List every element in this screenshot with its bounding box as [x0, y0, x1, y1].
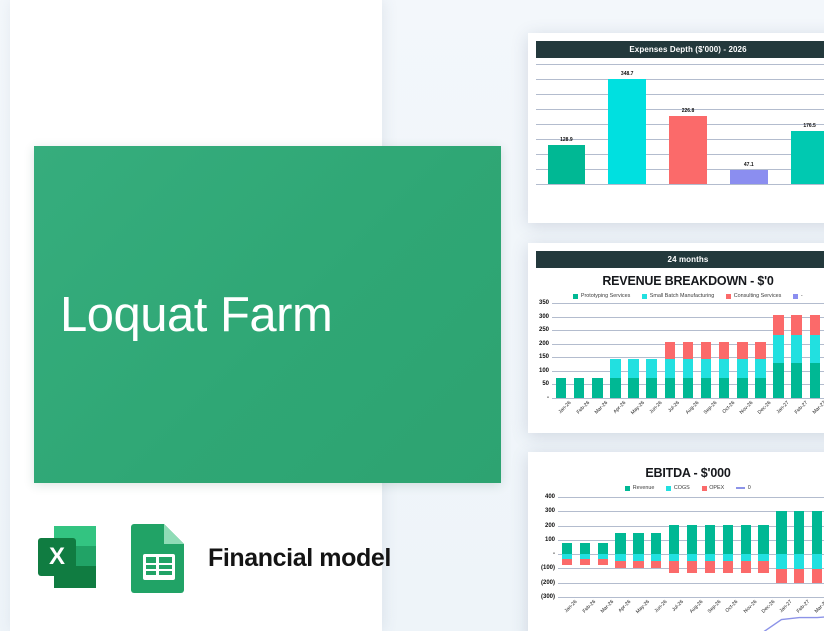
- legend-swatch-icon: [666, 486, 671, 491]
- y-axis-tick: 250: [539, 327, 549, 333]
- stacked-bar: [643, 303, 661, 398]
- bar-segment: [646, 378, 657, 398]
- bar: [669, 116, 707, 184]
- x-axis-tick: May-26: [635, 599, 651, 615]
- y-axis-tick: -: [547, 395, 549, 401]
- x-axis-label-cell: Jan-27: [770, 398, 788, 406]
- legend-swatch-icon: [573, 294, 578, 299]
- x-axis-tick: Feb-26: [582, 599, 597, 614]
- expenses-header: Expenses Depth ($'000) - 2026: [536, 41, 824, 58]
- bar-segment: [737, 378, 748, 398]
- x-axis-labels: Jan-26Feb-26Mar-26Apr-26May-26Jun-26Jul-…: [558, 597, 824, 605]
- x-axis-label-cell: Aug-26: [679, 398, 697, 406]
- x-axis-tick: Apr-26: [612, 400, 627, 415]
- x-axis-tick: Mar-27: [812, 400, 824, 415]
- x-axis-tick: Jun-26: [653, 599, 668, 614]
- expenses-plot: 128.9348.7226.847.1176.5: [536, 64, 824, 184]
- bar-group: 128.9348.7226.847.1176.5: [536, 64, 824, 184]
- x-axis-label-cell: Feb-27: [788, 398, 806, 406]
- x-axis-label-cell: Nov-26: [737, 597, 755, 605]
- bar-segment-revenue: [651, 533, 661, 554]
- bar-slot: 226.8: [658, 64, 719, 184]
- x-axis-tick: Dec-26: [757, 400, 773, 416]
- stacked-bar: [737, 497, 755, 597]
- title-block: Loquat Farm: [34, 146, 501, 483]
- bar-segment-revenue: [615, 533, 625, 554]
- stacked-bar: [625, 303, 643, 398]
- x-axis-tick: Feb-26: [576, 400, 591, 415]
- y-axis-tick: (300): [541, 594, 555, 600]
- stacked-bar: [790, 497, 808, 597]
- y-axis-tick: 300: [539, 314, 549, 320]
- x-axis-tick: Jun-26: [649, 400, 664, 415]
- x-axis-tick: May-26: [630, 400, 646, 416]
- stacked-bar: [661, 303, 679, 398]
- x-axis-label-cell: Jan-26: [552, 398, 570, 406]
- ebitda-title: EBITDA - $'000: [528, 466, 824, 480]
- bar-segment-revenue: [562, 543, 572, 554]
- bar-segment-revenue: [687, 525, 697, 554]
- x-axis-label-cell: Dec-26: [751, 398, 769, 406]
- legend-item: -: [793, 293, 802, 299]
- bar-value-label: 226.8: [682, 108, 695, 114]
- legend-label: 0: [748, 485, 751, 491]
- bar-segment: [574, 378, 585, 398]
- bar-segment-revenue: [758, 525, 768, 554]
- x-axis-label-cell: Mar-27: [808, 597, 824, 605]
- y-axis-tick: 350: [539, 300, 549, 306]
- stacked-bar: [755, 497, 773, 597]
- stacked-bar: [770, 303, 788, 398]
- bar-segment: [776, 569, 786, 583]
- footer-row: X Financial model: [30, 518, 391, 598]
- bar: [608, 79, 646, 184]
- bar-segment: [628, 359, 639, 378]
- legend-label: OPEX: [709, 485, 724, 491]
- x-axis-tick: Jan-27: [778, 599, 793, 614]
- legend-item: OPEX: [702, 485, 724, 491]
- bar-segment: [791, 363, 802, 398]
- x-axis-label-cell: May-26: [630, 597, 648, 605]
- bar-segment: [580, 559, 590, 565]
- stacked-bar: [715, 303, 733, 398]
- stacked-bar: [576, 497, 594, 597]
- x-axis-label-cell: Mar-26: [588, 398, 606, 406]
- legend-swatch-icon: [726, 294, 731, 299]
- revenue-plot: 35030025020015010050-Jan-26Feb-26Mar-26A…: [552, 303, 824, 398]
- x-axis-tick: Mar-27: [814, 599, 824, 614]
- bar-segment: [562, 559, 572, 565]
- bar-segment: [610, 359, 621, 378]
- bar-segment-revenue: [794, 511, 804, 555]
- bar-segment: [810, 363, 821, 398]
- legend-line-icon: [736, 487, 745, 489]
- stacked-bar: [588, 303, 606, 398]
- bar-segment: [701, 342, 712, 358]
- bar-value-label: 128.9: [560, 137, 573, 143]
- footer-label: Financial model: [208, 544, 391, 573]
- bar: [791, 131, 824, 184]
- bar-segment: [556, 378, 567, 398]
- bar-segment: [791, 315, 802, 335]
- bar-segment: [791, 335, 802, 364]
- bar-segment: [723, 561, 733, 573]
- stacked-bar: [808, 497, 824, 597]
- bar-segment: [683, 378, 694, 398]
- y-axis-tick: 150: [539, 354, 549, 360]
- page-title: Loquat Farm: [34, 287, 332, 343]
- bar-segment-revenue: [741, 525, 751, 554]
- bar-segment: [615, 561, 625, 569]
- bar-segment: [773, 363, 784, 398]
- chart-card-ebitda[interactable]: EBITDA - $'000 RevenueCOGSOPEX0 40030020…: [528, 452, 824, 631]
- bar-segment: [701, 359, 712, 378]
- x-axis-tick: Jan-26: [564, 599, 579, 614]
- stacked-bar: [647, 497, 665, 597]
- bar-segment-revenue: [580, 543, 590, 554]
- bar-segment: [628, 378, 639, 398]
- x-axis-tick: Jul-26: [671, 599, 685, 613]
- bar-segment: [810, 335, 821, 364]
- bar-segment: [773, 335, 784, 364]
- legend-item: Small Batch Manufacturing: [642, 293, 714, 299]
- legend-label: Prototyping Services: [581, 293, 630, 299]
- bar-segment: [812, 554, 822, 569]
- x-axis-tick: Feb-27: [796, 599, 811, 614]
- gridline: [536, 184, 824, 185]
- revenue-header: 24 months: [536, 251, 824, 268]
- revenue-title: REVENUE BREAKDOWN - $'0: [528, 274, 824, 288]
- x-axis-tick: Sep-26: [703, 400, 719, 416]
- bar-segment: [683, 342, 694, 358]
- x-axis-tick: Mar-26: [599, 599, 614, 614]
- bar-segment: [665, 359, 676, 378]
- x-axis-tick: Apr-26: [617, 599, 632, 614]
- stacked-bar: [751, 303, 769, 398]
- bar-segment: [737, 342, 748, 358]
- stacked-bar: [701, 497, 719, 597]
- x-axis-label-cell: Apr-26: [606, 398, 624, 406]
- bar-segment: [758, 561, 768, 573]
- google-sheets-icon: [128, 521, 190, 595]
- x-axis-tick: Feb-27: [793, 400, 808, 415]
- bar-segment: [755, 378, 766, 398]
- bar-segment-revenue: [812, 511, 822, 555]
- x-axis-tick: Jul-26: [667, 400, 681, 414]
- x-axis-tick: Nov-26: [739, 400, 755, 416]
- x-axis-label-cell: Jan-26: [558, 597, 576, 605]
- legend-item: Prototyping Services: [573, 293, 630, 299]
- bar-group: [558, 497, 824, 597]
- y-axis-tick: 50: [542, 381, 549, 387]
- bar-slot: 47.1: [718, 64, 779, 184]
- bar-segment-revenue: [633, 533, 643, 554]
- legend-swatch-icon: [625, 486, 630, 491]
- y-axis-tick: 200: [545, 523, 555, 529]
- x-axis-label-cell: Jul-26: [661, 398, 679, 406]
- legend-swatch-icon: [702, 486, 707, 491]
- svg-text:X: X: [49, 543, 65, 570]
- bar-segment-revenue: [776, 511, 786, 555]
- bar-value-label: 348.7: [621, 71, 634, 77]
- bar-segment: [633, 561, 643, 569]
- bar-slot: 348.7: [597, 64, 658, 184]
- stacked-bar: [612, 497, 630, 597]
- y-axis-tick: -: [553, 551, 555, 557]
- legend-item: Revenue: [625, 485, 654, 491]
- x-axis-tick: Oct-26: [721, 400, 736, 415]
- stacked-bar: [630, 497, 648, 597]
- bar-segment: [669, 561, 679, 573]
- legend-item: 0: [736, 485, 751, 491]
- stacked-bar: [552, 303, 570, 398]
- bar-segment: [773, 315, 784, 335]
- bar-segment: [737, 359, 748, 378]
- legend-label: Consulting Services: [734, 293, 782, 299]
- slide-canvas: READY Business Plans Loquat Farm X: [0, 0, 824, 631]
- bar-segment: [755, 342, 766, 358]
- bar-segment: [812, 569, 822, 583]
- y-axis-tick: 300: [545, 508, 555, 514]
- x-axis-label-cell: Aug-26: [683, 597, 701, 605]
- legend-item: COGS: [666, 485, 689, 491]
- bar-segment-revenue: [723, 525, 733, 554]
- bar-value-label: 176.5: [803, 123, 816, 129]
- legend-label: -: [801, 293, 803, 299]
- x-axis-label-cell: Oct-26: [715, 398, 733, 406]
- bar: [548, 145, 586, 184]
- stacked-bar: [788, 303, 806, 398]
- stacked-bar: [679, 303, 697, 398]
- x-axis-tick: Nov-26: [742, 599, 758, 615]
- stacked-bar: [697, 303, 715, 398]
- legend-label: Revenue: [633, 485, 655, 491]
- bar-value-label: 47.1: [744, 162, 754, 168]
- bar-segment: [687, 561, 697, 573]
- stacked-bar: [719, 497, 737, 597]
- bar-segment: [705, 561, 715, 573]
- legend-label: COGS: [674, 485, 690, 491]
- ebitda-plot: 400300200100-(100)(200)(300)Jan-26Feb-26…: [558, 497, 824, 597]
- legend-swatch-icon: [642, 294, 647, 299]
- stacked-bar: [665, 497, 683, 597]
- x-axis-tick: Aug-26: [685, 400, 701, 416]
- bar-segment: [776, 554, 786, 569]
- y-axis-tick: 400: [545, 494, 555, 500]
- bar-segment: [646, 359, 657, 378]
- bar-segment-revenue: [669, 525, 679, 554]
- x-axis-label-cell: May-26: [625, 398, 643, 406]
- y-axis-tick: (200): [541, 580, 555, 586]
- x-axis-label-cell: Feb-26: [570, 398, 588, 406]
- stacked-bar: [606, 303, 624, 398]
- x-axis-tick: Dec-26: [760, 599, 776, 615]
- bar-segment-revenue: [705, 525, 715, 554]
- bar-segment: [651, 561, 661, 569]
- bar-group: [552, 303, 824, 398]
- stacked-bar: [570, 303, 588, 398]
- bar-segment: [810, 315, 821, 335]
- x-axis-label-cell: Feb-27: [790, 597, 808, 605]
- chart-card-revenue[interactable]: 24 months REVENUE BREAKDOWN - $'0 Protot…: [528, 243, 824, 433]
- stacked-bar: [594, 497, 612, 597]
- ebitda-legend: RevenueCOGSOPEX0: [528, 485, 824, 491]
- stacked-bar: [558, 497, 576, 597]
- bar-segment-revenue: [598, 543, 608, 554]
- microsoft-excel-icon: X: [30, 518, 110, 598]
- x-axis-tick: Sep-26: [707, 599, 723, 615]
- bar-segment: [683, 359, 694, 378]
- bar-segment: [598, 559, 608, 565]
- y-axis-tick: (100): [541, 565, 555, 571]
- legend-item: Consulting Services: [726, 293, 781, 299]
- x-axis-label-cell: Nov-26: [733, 398, 751, 406]
- bar-segment: [741, 561, 751, 573]
- legend-swatch-icon: [793, 294, 798, 299]
- y-axis-tick: 200: [539, 341, 549, 347]
- x-axis-tick: Jan-27: [775, 400, 790, 415]
- chart-card-expenses[interactable]: Expenses Depth ($'000) - 2026 128.9348.7…: [528, 33, 824, 223]
- bar-segment: [701, 378, 712, 398]
- stacked-bar: [733, 303, 751, 398]
- bar-segment: [592, 378, 603, 398]
- x-axis-tick: Jan-26: [558, 400, 573, 415]
- x-axis-label-cell: Feb-26: [576, 597, 594, 605]
- bar-segment: [610, 378, 621, 398]
- y-axis-tick: 100: [545, 537, 555, 543]
- stacked-bar: [773, 497, 791, 597]
- revenue-legend: Prototyping ServicesSmall Batch Manufact…: [528, 293, 824, 299]
- x-axis-labels: Jan-26Feb-26Mar-26Apr-26May-26Jun-26Jul-…: [552, 398, 824, 406]
- x-axis-tick: Mar-26: [594, 400, 609, 415]
- bar-segment: [794, 554, 804, 569]
- bar-slot: 128.9: [536, 64, 597, 184]
- bar-segment: [719, 342, 730, 358]
- bar-segment: [665, 378, 676, 398]
- bar-segment: [665, 342, 676, 358]
- bar-segment: [719, 378, 730, 398]
- stacked-bar: [806, 303, 824, 398]
- stacked-bar: [683, 497, 701, 597]
- bar-segment: [755, 359, 766, 378]
- legend-label: Small Batch Manufacturing: [650, 293, 714, 299]
- bar-slot: 176.5: [779, 64, 824, 184]
- y-axis-tick: 100: [539, 368, 549, 374]
- bar: [730, 170, 768, 184]
- x-axis-tick: Oct-26: [725, 599, 740, 614]
- bar-segment: [794, 569, 804, 583]
- x-axis-tick: Aug-26: [689, 599, 705, 615]
- bar-segment: [719, 359, 730, 378]
